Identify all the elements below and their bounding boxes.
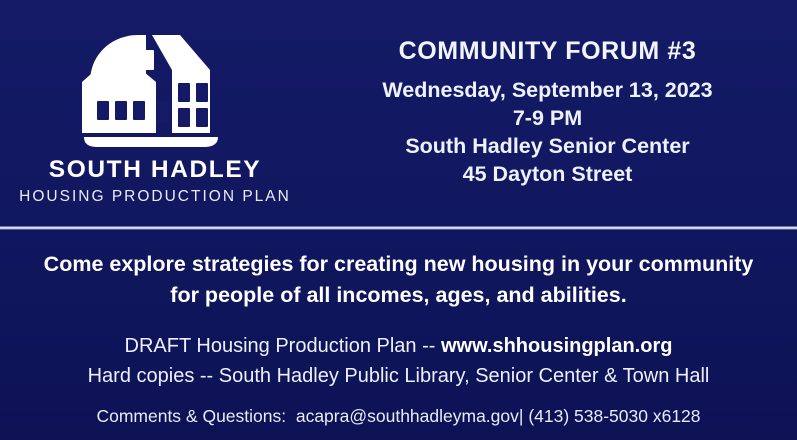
contact-line: Comments & Questions: acapra@southhadley… bbox=[96, 404, 700, 429]
logo-subtitle: HOUSING PRODUCTION PLAN bbox=[19, 189, 291, 205]
contact-separator: | bbox=[519, 406, 524, 426]
header-band: SOUTH HADLEY HOUSING PRODUCTION PLAN COM… bbox=[0, 0, 797, 226]
flyer-poster: SOUTH HADLEY HOUSING PRODUCTION PLAN COM… bbox=[0, 0, 797, 440]
section-divider bbox=[0, 226, 797, 230]
contact-email[interactable]: acapra@southhadleyma.gov bbox=[296, 406, 519, 426]
body-band: Come explore strategies for creating new… bbox=[0, 231, 797, 440]
logo-title: SOUTH HADLEY bbox=[49, 158, 261, 183]
contact-label: Comments & Questions: bbox=[96, 406, 286, 426]
headline-line-2: for people of all incomes, ages, and abi… bbox=[170, 280, 626, 311]
event-date: Wednesday, September 13, 2023 bbox=[382, 77, 712, 105]
logo-block: SOUTH HADLEY HOUSING PRODUCTION PLAN bbox=[0, 0, 310, 226]
event-venue: South Hadley Senior Center bbox=[405, 133, 689, 161]
house-buildings-icon bbox=[68, 26, 243, 151]
contact-phone[interactable]: (413) 538-5030 x6128 bbox=[528, 406, 700, 426]
event-time: 7-9 PM bbox=[513, 105, 582, 133]
headline-line-1: Come explore strategies for creating new… bbox=[44, 249, 754, 280]
draft-plan-website[interactable]: www.shhousingplan.org bbox=[441, 335, 672, 357]
event-title: COMMUNITY FORUM #3 bbox=[399, 37, 697, 66]
info-group: DRAFT Housing Production Plan -- www.shh… bbox=[88, 331, 710, 392]
event-details-block: COMMUNITY FORUM #3 Wednesday, September … bbox=[310, 0, 797, 226]
draft-plan-prefix: DRAFT Housing Production Plan -- bbox=[125, 335, 441, 357]
event-address: 45 Dayton Street bbox=[463, 161, 633, 189]
hard-copies-line: Hard copies -- South Hadley Public Libra… bbox=[88, 361, 710, 391]
draft-plan-line: DRAFT Housing Production Plan -- www.shh… bbox=[88, 331, 710, 361]
